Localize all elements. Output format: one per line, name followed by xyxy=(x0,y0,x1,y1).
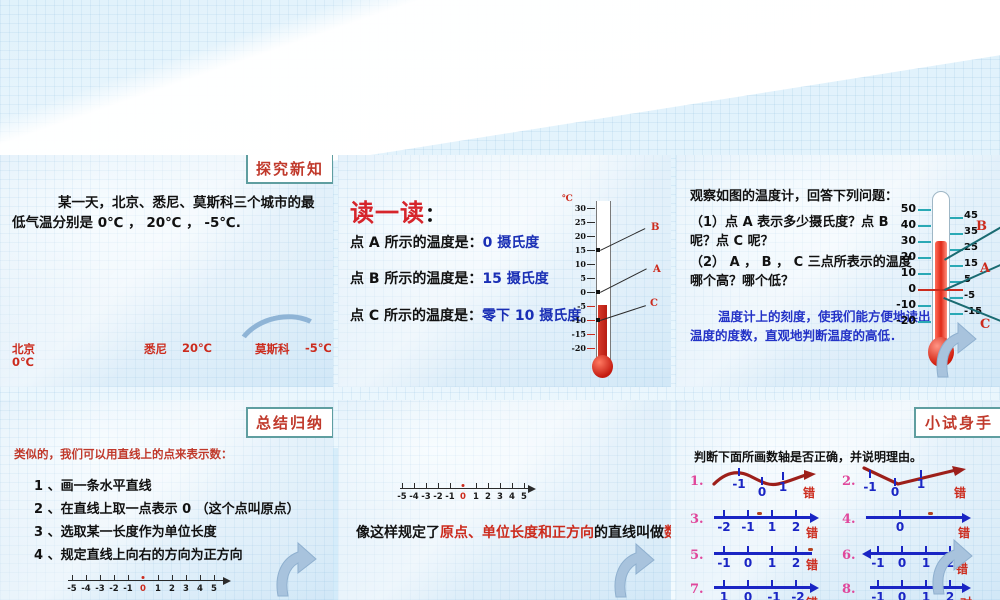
read-tick-15: 15 xyxy=(562,245,586,255)
read-point-a-label: A xyxy=(653,264,661,275)
read-bar-chart-clipart xyxy=(620,355,671,387)
observe-question-1: （1）点 A 表示多少摄氏度？点 B 呢？点 C 呢？ xyxy=(690,213,912,251)
definition-sentence-term: 数轴。 xyxy=(664,525,671,541)
read-line-1-prefix: 点 A 所示的温度是： xyxy=(350,235,483,251)
practice-item-2-verdict: 错 xyxy=(954,484,966,501)
definition-nl-tick-m1: -1 xyxy=(445,492,454,502)
read-line-2-prefix: 点 B 所示的温度是： xyxy=(350,271,482,287)
observe-point-b-label: B xyxy=(976,219,987,234)
panel-read: 读一读： 点 A 所示的温度是：0 摄氏度 点 B 所示的温度是：15 摄氏度 … xyxy=(338,155,671,387)
banner-bar-1 xyxy=(735,98,769,120)
practice-item-2-index: 2. xyxy=(842,474,856,489)
observe-right-m5: -5 xyxy=(964,290,990,301)
observe-bar-3 xyxy=(982,357,993,387)
read-tick-10: 10 xyxy=(562,259,586,269)
summary-bar-chart-clipart xyxy=(304,572,333,600)
read-tick-30: 30 xyxy=(562,203,586,213)
explore-bar-chart-clipart xyxy=(240,331,332,387)
practice-item-5-label-2: 0 xyxy=(744,556,752,570)
sydney-temperature: 20℃ xyxy=(182,341,212,355)
practice-item-7-label-1: 1 xyxy=(720,590,728,600)
summary-intro: 类似的，我们可以用直线上的点来表示数： xyxy=(14,446,233,462)
read-tick-m20: -20 xyxy=(560,343,586,353)
badge-explore: 探究新知 xyxy=(246,155,333,184)
banner-bar-2 xyxy=(777,82,811,120)
practice-item-3[interactable]: 3. -2 -1 1 2 错 xyxy=(690,506,830,538)
practice-item-7-label-4: -2 xyxy=(791,590,804,600)
practice-bar-chart-clipart xyxy=(970,570,1000,600)
summary-nl-tick-m4: -4 xyxy=(81,584,90,594)
read-title-colon: ： xyxy=(425,202,446,226)
practice-item-4-origin-dot xyxy=(928,512,933,515)
read-tick-0: 0 xyxy=(562,287,586,297)
observe-left-50: 50 xyxy=(888,202,916,215)
definition-nl-tick-m4: -4 xyxy=(409,492,418,502)
observe-bar-1 xyxy=(954,378,964,387)
practice-item-4[interactable]: 4. 0 错 xyxy=(842,506,982,538)
practice-item-7-label-2: 0 xyxy=(744,590,752,600)
banner-bar-4 xyxy=(861,32,895,120)
read-line-3: 点 C 所示的温度是：零下 10 摄氏度 xyxy=(350,305,581,325)
definition-nl-tick-4: 4 xyxy=(509,492,515,502)
badge-practice: 小试身手 xyxy=(914,407,1000,438)
summary-nl-tick-m3: -3 xyxy=(95,584,104,594)
explore-bar-2 xyxy=(261,368,274,387)
practice-item-5-index: 5. xyxy=(690,548,704,563)
banner-bar-5 xyxy=(903,8,933,120)
read-point-b-label: B xyxy=(651,222,659,233)
observe-point-a-label: A xyxy=(980,261,990,276)
practice-item-3-verdict: 错 xyxy=(806,524,818,541)
practice-item-6-label-1: -1 xyxy=(871,556,884,570)
explore-bar-5 xyxy=(312,337,325,387)
practice-item-2[interactable]: 2. -1 0 1 错 xyxy=(842,468,982,502)
practice-item-5-label-1: -1 xyxy=(717,556,730,570)
definition-nl-tick-3: 3 xyxy=(497,492,503,502)
sydney-caption: 悉尼 xyxy=(144,341,167,357)
read-title-text: 读一读 xyxy=(350,199,425,227)
practice-prompt: 判断下面所画数轴是否正确，并说明理由。 xyxy=(694,448,922,465)
summary-bar-1 xyxy=(304,588,314,600)
read-tick-25: 25 xyxy=(562,217,586,227)
read-bar-3 xyxy=(650,359,663,387)
read-bar-1 xyxy=(620,379,631,387)
summary-nl-tick-3: 3 xyxy=(183,584,189,594)
summary-nl-tick-2: 2 xyxy=(169,584,175,594)
practice-bar-2 xyxy=(985,572,996,600)
practice-item-1[interactable]: 1. -1 0 1 错 xyxy=(690,468,826,502)
definition-sentence-a: 像这样规定了 xyxy=(356,525,440,541)
read-line-1: 点 A 所示的温度是：0 摄氏度 xyxy=(350,232,539,252)
practice-item-7-verdict: 错 xyxy=(806,594,818,600)
practice-item-1-label-3: 1 xyxy=(779,480,787,494)
practice-item-3-label-2: -1 xyxy=(741,520,754,534)
explore-bar-3 xyxy=(278,358,291,387)
summary-nl-tick-5: 5 xyxy=(211,584,217,594)
practice-item-4-index: 4. xyxy=(842,512,856,527)
panel-summary: 总结归纳 类似的，我们可以用直线上的点来表示数： 1 、画一条水平直线 2 、在… xyxy=(0,400,333,600)
read-tick-20: 20 xyxy=(562,231,586,241)
observe-left-0: 0 xyxy=(888,282,916,295)
definition-bar-2 xyxy=(656,576,667,600)
definition-nl-tick-1: 1 xyxy=(473,492,479,502)
badge-summary: 总结归纳 xyxy=(246,407,333,438)
summary-bar-2 xyxy=(318,574,329,600)
panel-practice: 小试身手 判断下面所画数轴是否正确，并说明理由。 1. -1 0 1 错 xyxy=(676,400,1000,600)
explore-lead-text: 某一天，北京、悉尼、莫斯科三个城市的最低气温分别是 0℃ ， 20℃ ， -5℃… xyxy=(12,193,322,233)
practice-item-2-label-1: -1 xyxy=(863,480,876,494)
definition-sentence: 像这样规定了原点、单位长度和正方向的直线叫做数轴。 xyxy=(356,522,671,542)
summary-nl-tick-4: 4 xyxy=(197,584,203,594)
definition-bar-chart-clipart xyxy=(642,574,671,600)
definition-nl-tick-2: 2 xyxy=(485,492,491,502)
summary-nl-tick-m2: -2 xyxy=(109,584,118,594)
practice-item-3-label-1: -2 xyxy=(717,520,730,534)
practice-item-5-label-3: 1 xyxy=(768,556,776,570)
definition-nl-tick-m2: -2 xyxy=(433,492,442,502)
read-line-3-prefix: 点 C 所示的温度是： xyxy=(350,308,482,324)
banner-bar-3 xyxy=(819,58,853,120)
read-line-1-answer: 0 摄氏度 xyxy=(483,235,540,251)
practice-up-arrow-icon xyxy=(928,536,976,598)
practice-item-1-label-2: 0 xyxy=(758,485,766,499)
practice-item-8-label-1: -1 xyxy=(871,590,884,600)
observe-point-c-label: C xyxy=(980,317,990,332)
summary-step-2: 2 、在直线上取一点表示 0 （这个点叫原点） xyxy=(34,498,300,517)
definition-nl-tick-0: 0 xyxy=(460,492,466,502)
explore-bar-4 xyxy=(295,347,308,387)
practice-item-5-label-4: 2 xyxy=(792,556,800,570)
observe-left-20: 20 xyxy=(888,250,916,263)
summary-step-1: 1 、画一条水平直线 xyxy=(34,475,152,494)
practice-item-7-index: 7. xyxy=(690,582,704,597)
explore-bar-1 xyxy=(244,376,257,387)
read-thermometer-bulb xyxy=(592,355,613,378)
read-line-2-answer: 15 摄氏度 xyxy=(482,271,548,287)
observe-left-m10: -10 xyxy=(888,298,916,311)
summary-nl-tick-m5: -5 xyxy=(67,584,76,594)
read-tick-m15: -15 xyxy=(560,329,586,339)
panel-explore: 探究新知 某一天，北京、悉尼、莫斯科三个城市的最低气温分别是 0℃ ， 20℃ … xyxy=(0,155,333,387)
definition-bar-1 xyxy=(642,589,652,600)
practice-item-1-label-1: -1 xyxy=(732,477,745,491)
panel-observe: 观察如图的温度计，回答下列问题： （1）点 A 表示多少摄氏度？点 B 呢？点 … xyxy=(676,155,1000,387)
observe-bar-2 xyxy=(968,370,978,387)
practice-item-8-index: 8. xyxy=(842,582,856,597)
practice-item-3-label-3: 1 xyxy=(768,520,776,534)
beijing-temperature: 0℃ xyxy=(12,355,34,369)
summary-step-3: 3 、选取某一长度作为单位长度 xyxy=(34,521,217,540)
practice-item-3-origin-dot xyxy=(757,512,762,515)
observe-question-2: （2） A ， B ， C 三点所表示的温度哪个高？哪个低？ xyxy=(690,253,912,291)
summary-nl-tick-m1: -1 xyxy=(123,584,132,594)
definition-nl-tick-m5: -5 xyxy=(397,492,406,502)
banner-bar-6 xyxy=(941,0,973,120)
observe-left-m20: -20 xyxy=(888,314,916,327)
panel-definition: -5 -4 -3 -2 -1 0 1 2 3 4 5 像这样规定了原点、单位长度… xyxy=(338,400,671,600)
practice-item-6-label-2: 0 xyxy=(898,556,906,570)
definition-nl-tick-m3: -3 xyxy=(421,492,430,502)
summary-nl-tick-0: 0 xyxy=(140,584,146,594)
practice-item-7-label-3: -1 xyxy=(767,590,780,600)
practice-item-2-label-2: 0 xyxy=(891,485,899,499)
practice-bar-1 xyxy=(970,588,980,600)
definition-nl-tick-5: 5 xyxy=(521,492,527,502)
practice-item-5[interactable]: 5. -1 0 1 2 错 xyxy=(690,542,830,572)
observe-left-30: 30 xyxy=(888,234,916,247)
practice-item-3-index: 3. xyxy=(690,512,704,527)
summary-nl-tick-1: 1 xyxy=(155,584,161,594)
read-tick-m5: -5 xyxy=(562,301,586,311)
practice-item-3-label-4: 2 xyxy=(792,520,800,534)
practice-item-4-label-1: 0 xyxy=(896,520,904,534)
observe-left-10: 10 xyxy=(888,266,916,279)
observe-intro: 观察如图的温度计，回答下列问题： xyxy=(690,187,916,206)
practice-item-7[interactable]: 7. 1 0 -1 -2 错 xyxy=(690,576,830,600)
observe-left-40: 40 xyxy=(888,218,916,231)
practice-item-6-index: 6. xyxy=(842,548,856,563)
practice-item-8-label-2: 0 xyxy=(898,590,906,600)
read-tick-m10: -10 xyxy=(560,315,586,325)
read-title: 读一读： xyxy=(350,193,446,228)
read-line-2: 点 B 所示的温度是：15 摄氏度 xyxy=(350,268,549,288)
read-point-c-label: C xyxy=(650,298,658,309)
observe-bar-chart-clipart xyxy=(954,353,1000,387)
definition-sentence-highlight: 原点、单位长度和正方向 xyxy=(440,525,594,541)
practice-item-1-index: 1. xyxy=(690,474,704,489)
observe-leader-b xyxy=(944,216,1000,260)
practice-item-5-end-dot xyxy=(808,548,813,551)
practice-item-2-label-3: 1 xyxy=(917,477,925,491)
read-tick-5: 5 xyxy=(562,273,586,283)
slide-canvas: 探究新知 某一天，北京、悉尼、莫斯科三个城市的最低气温分别是 0℃ ， 20℃ … xyxy=(0,0,1000,600)
read-bar-2 xyxy=(635,374,646,387)
definition-sentence-c: 的直线叫做 xyxy=(594,525,664,541)
practice-item-5-verdict: 错 xyxy=(806,556,818,573)
summary-step-4: 4 、规定直线上向右的方向为正方向 xyxy=(34,544,243,563)
practice-item-1-verdict: 错 xyxy=(803,484,815,501)
banner-bar-chart-clipart xyxy=(725,0,1000,120)
banner-header xyxy=(0,0,1000,152)
